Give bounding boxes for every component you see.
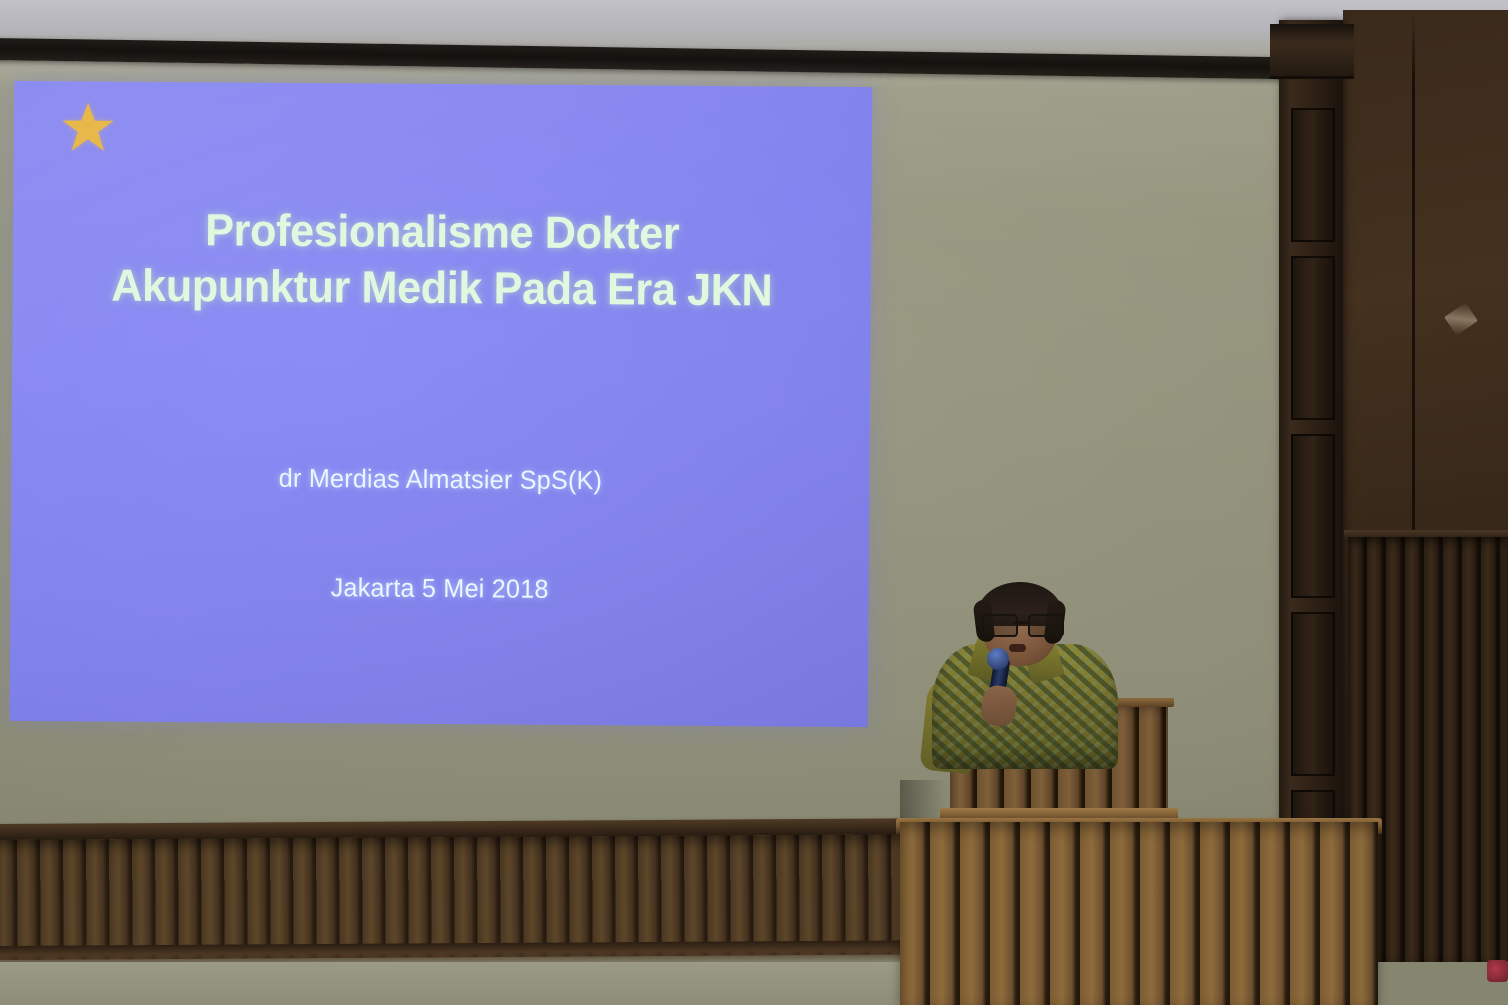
- pilaster-panel: [1291, 434, 1335, 598]
- slide-title-line-1: Profesionalisme Dokter: [30, 201, 854, 263]
- slide-title: Profesionalisme Dokter Akupunktur Medik …: [30, 201, 854, 319]
- eyeglasses-icon: [981, 614, 1061, 633]
- wooden-pilaster-column: [1279, 20, 1343, 950]
- pilaster-capital: [1270, 24, 1354, 79]
- pilaster-panel: [1291, 108, 1335, 242]
- eyeglass-bridge: [1014, 621, 1028, 624]
- eyeglass-lens-right: [1028, 614, 1064, 637]
- slide-sheen: [10, 81, 873, 727]
- star-icon: [60, 99, 116, 155]
- wooden-lectern: [900, 822, 1378, 1005]
- red-object: [1487, 960, 1508, 982]
- slide-presenter-name: dr Merdias Almatsier SpS(K): [24, 461, 856, 498]
- slide-place-date: Jakarta 5 Mei 2018: [23, 570, 855, 607]
- pilaster-panel: [1291, 256, 1335, 420]
- presenter-at-podium: [930, 586, 1120, 766]
- floor-strip: [0, 962, 912, 1005]
- presenter-mouth: [1009, 644, 1026, 652]
- photograph-scene: Profesionalisme Dokter Akupunktur Medik …: [0, 0, 1508, 1005]
- projected-slide: Profesionalisme Dokter Akupunktur Medik …: [10, 81, 873, 727]
- eyeglass-lens-left: [982, 614, 1018, 637]
- slide-title-line-2: Akupunktur Medik Pada Era JKN: [30, 257, 854, 319]
- pilaster-panel: [1291, 612, 1335, 776]
